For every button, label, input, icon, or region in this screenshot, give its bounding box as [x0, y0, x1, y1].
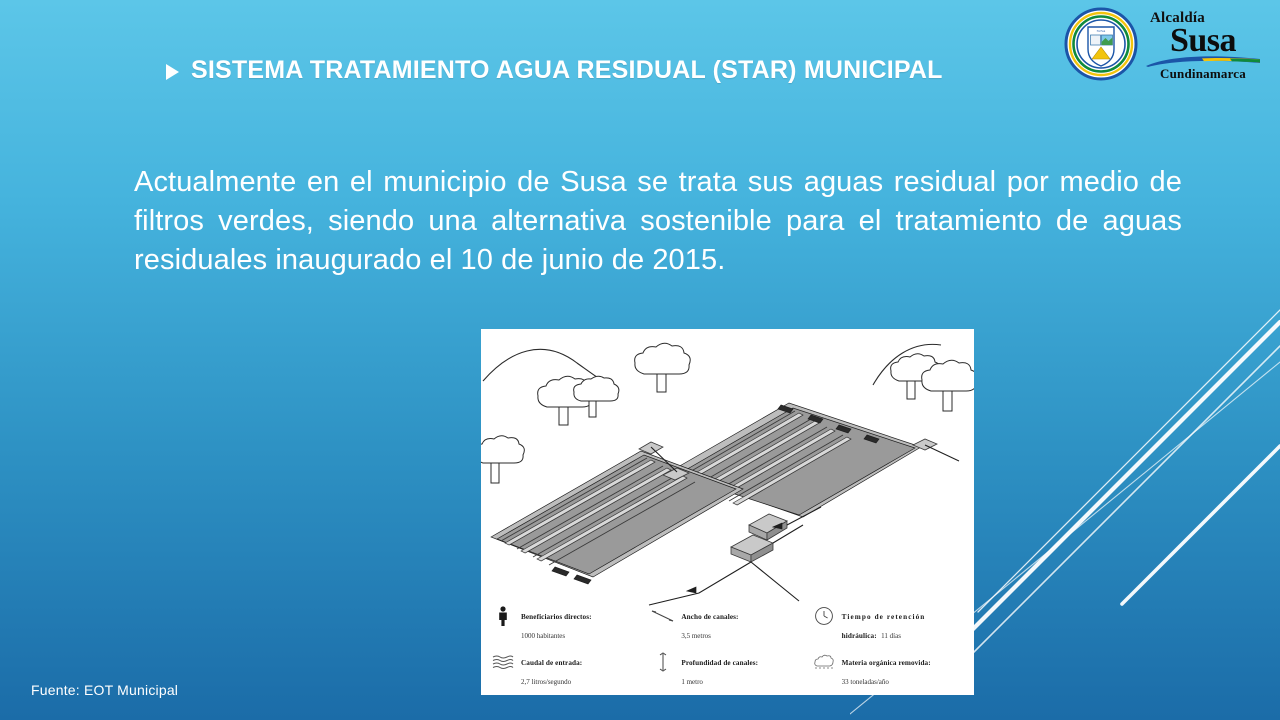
- coat-of-arms-emblem-icon: SUSA: [1064, 7, 1138, 81]
- slide-title: SISTEMA TRATAMIENTO AGUA RESIDUAL (STAR)…: [166, 56, 943, 85]
- legend-item: Ancho de canales: 3,5 metros: [651, 605, 803, 644]
- water-waves-icon: [491, 651, 515, 673]
- slide-title-text: SISTEMA TRATAMIENTO AGUA RESIDUAL (STAR)…: [191, 56, 943, 85]
- clock-icon: [812, 605, 836, 627]
- legend-label: Ancho de canales:: [681, 613, 738, 621]
- organic-matter-icon: [812, 651, 836, 673]
- width-measure-icon: [651, 605, 675, 627]
- legend-value: 2,7 litros/segundo: [521, 678, 571, 686]
- legend-value: 1 metro: [681, 678, 703, 686]
- legend-value: 11 días: [881, 632, 901, 640]
- slide-canvas: SUSA Alcaldía Susa Cundinamarca SISTEMA …: [0, 0, 1280, 720]
- legend-value: 33 toneladas/año: [842, 678, 889, 686]
- legend-value: 1000 habitantes: [521, 632, 565, 640]
- figure-legend: Beneficiarios directos: 1000 habitantes …: [491, 605, 964, 691]
- legend-item: Tiempo de retención hidráulica: 11 días: [812, 605, 964, 644]
- slide-body-paragraph: Actualmente en el municipio de Susa se t…: [134, 163, 1182, 280]
- legend-value: 3,5 metros: [681, 632, 711, 640]
- title-bullet-triangle-icon: [166, 64, 179, 80]
- person-icon: [491, 605, 515, 627]
- svg-text:SUSA: SUSA: [1097, 29, 1106, 33]
- legend-item: Profundidad de canales: 1 metro: [651, 651, 803, 690]
- legend-label: Materia orgánica removida:: [842, 659, 931, 667]
- logo-wordmark: Alcaldía Susa Cundinamarca: [1144, 9, 1262, 80]
- figure-panel: Beneficiarios directos: 1000 habitantes …: [481, 329, 974, 695]
- legend-label: Profundidad de canales:: [681, 659, 758, 667]
- legend-label-2: hidráulica:: [842, 632, 877, 640]
- logo-susa-text: Susa: [1170, 24, 1236, 58]
- legend-item: Materia orgánica removida: 33 toneladas/…: [812, 651, 964, 690]
- legend-label: Beneficiarios directos:: [521, 613, 592, 621]
- legend-column-1: Beneficiarios directos: 1000 habitantes …: [491, 605, 643, 695]
- logo-cundinamarca-text: Cundinamarca: [1160, 67, 1246, 80]
- green-filter-isometric-diagram: [481, 329, 974, 614]
- legend-item: Caudal de entrada: 2,7 litros/segundo: [491, 651, 643, 690]
- depth-measure-icon: [651, 651, 675, 673]
- legend-label: Caudal de entrada:: [521, 659, 582, 667]
- legend-label: Tiempo de retención: [842, 613, 926, 621]
- legend-column-2: Ancho de canales: 3,5 metros Profundidad…: [651, 605, 803, 695]
- municipality-logo: SUSA Alcaldía Susa Cundinamarca: [1064, 4, 1272, 84]
- source-footer: Fuente: EOT Municipal: [31, 682, 178, 698]
- legend-item: Beneficiarios directos: 1000 habitantes: [491, 605, 643, 644]
- legend-column-3: Tiempo de retención hidráulica: 11 días …: [812, 605, 964, 695]
